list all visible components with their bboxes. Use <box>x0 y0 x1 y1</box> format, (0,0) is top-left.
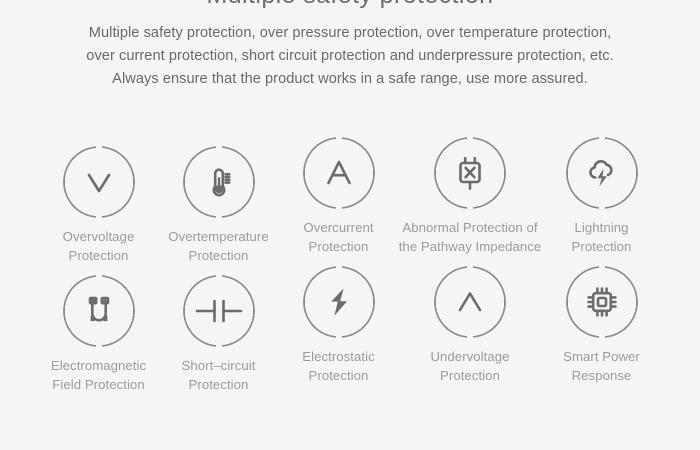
feature-label-line-2: Field Protection <box>51 375 146 394</box>
feature-label-line-1: Smart Power <box>563 347 640 366</box>
feature-label-line-2: Protection <box>303 237 373 256</box>
feature-label-line-1: Short–circuit <box>182 356 256 375</box>
feature-label: Electromagnetic Field Protection <box>51 356 146 394</box>
feature-label-line-1: Electrostatic <box>302 347 374 366</box>
feature-item-lightning: Lightning Protection <box>542 137 662 256</box>
feature-item-short-circuit: Short–circuit Protection <box>159 275 279 394</box>
icon-ring <box>303 137 375 209</box>
icon-ring <box>63 146 135 218</box>
icon-ring <box>183 146 255 218</box>
feature-grid: Overvoltage Protection <box>0 146 700 394</box>
feature-label: Overtemperature Protection <box>168 227 268 265</box>
page-title: Multiple safety protection <box>0 0 700 12</box>
feature-label-line-1: Undervoltage <box>430 347 509 366</box>
icon-ring <box>566 137 638 209</box>
feature-label-line-2: Protection <box>168 246 268 265</box>
feature-label: Undervoltage Protection <box>430 347 509 385</box>
feature-label-line-1: Lightning <box>572 218 632 237</box>
feature-item-overtemperature: Overtemperature Protection <box>159 146 279 265</box>
feature-label: Electrostatic Protection <box>302 347 374 385</box>
description-line-3: Always ensure that the product works in … <box>0 68 700 91</box>
feature-row-2: Electromagnetic Field Protection Short–c… <box>0 275 700 394</box>
feature-label: Smart Power Response <box>563 347 640 385</box>
feature-label: Overvoltage Protection <box>63 227 135 265</box>
feature-label-line-1: Abnormal Protection of <box>399 218 542 237</box>
description-block: Multiple safety protection, over pressur… <box>0 22 700 91</box>
chevron-up-voltage-icon <box>448 280 492 324</box>
feature-item-electrostatic: Electrostatic Protection <box>279 266 399 385</box>
cpu-chip-icon <box>580 280 624 324</box>
feature-label: Lightning Protection <box>572 218 632 256</box>
icon-ring <box>303 266 375 338</box>
feature-item-smart-power-response: Smart Power Response <box>542 266 662 385</box>
feature-item-abnormal-pathway-impedance: Abnormal Protection of the Pathway Imped… <box>399 137 542 256</box>
icon-ring <box>63 275 135 347</box>
plug-x-icon <box>447 150 493 196</box>
feature-label-line-2: Response <box>563 366 640 385</box>
feature-label-line-2: Protection <box>182 375 256 394</box>
feature-label: Short–circuit Protection <box>182 356 256 394</box>
feature-label-line-1: Overtemperature <box>168 227 268 246</box>
chevron-down-voltage-icon <box>77 160 121 204</box>
feature-item-undervoltage: Undervoltage Protection <box>399 266 542 385</box>
icon-ring <box>434 137 506 209</box>
feature-label-line-2: Protection <box>572 237 632 256</box>
feature-item-electromagnetic-field: Electromagnetic Field Protection <box>39 275 159 394</box>
feature-label: Overcurrent Protection <box>303 218 373 256</box>
feature-label-line-2: Protection <box>63 246 135 265</box>
feature-row-1: Overvoltage Protection <box>0 146 700 265</box>
icon-ring <box>566 266 638 338</box>
description-line-2: over current protection, short circuit p… <box>0 45 700 68</box>
feature-label-line-2: Protection <box>430 366 509 385</box>
icon-ring <box>183 275 255 347</box>
lightning-bolt-icon <box>317 280 361 324</box>
cloud-lightning-icon <box>580 151 624 195</box>
feature-label-line-1: Overvoltage <box>63 227 135 246</box>
feature-label-line-1: Overcurrent <box>303 218 373 237</box>
feature-item-overvoltage: Overvoltage Protection <box>39 146 159 265</box>
open-circuit-icon <box>193 289 245 333</box>
feature-label-line-2: the Pathway Impedance <box>399 237 542 256</box>
feature-item-overcurrent: Overcurrent Protection <box>279 137 399 256</box>
page-title-clip: Multiple safety protection <box>0 0 700 18</box>
description-line-1: Multiple safety protection, over pressur… <box>0 22 700 45</box>
thermometer-icon <box>197 160 241 204</box>
horseshoe-magnet-icon <box>77 289 121 333</box>
icon-ring <box>434 266 506 338</box>
feature-label-line-2: Protection <box>302 366 374 385</box>
ampere-a-icon <box>317 151 361 195</box>
feature-label-line-1: Electromagnetic <box>51 356 146 375</box>
feature-label: Abnormal Protection of the Pathway Imped… <box>399 218 542 256</box>
